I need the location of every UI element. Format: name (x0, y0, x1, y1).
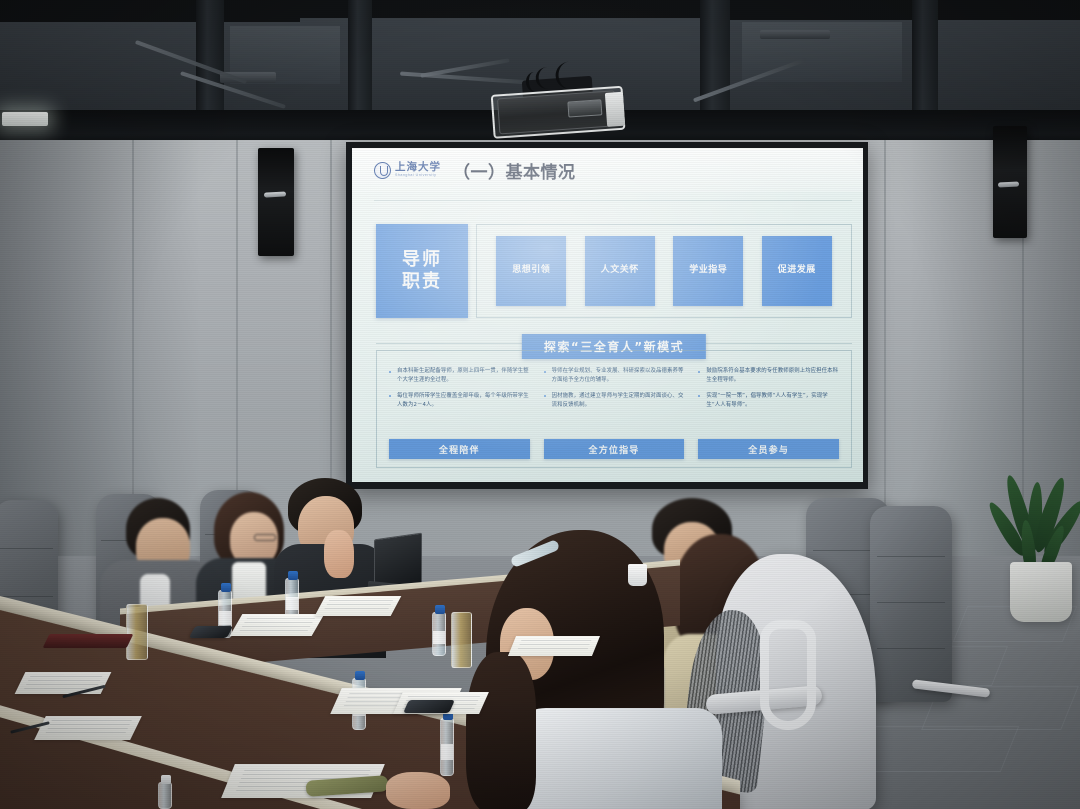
wall-shading-left (0, 140, 200, 560)
paper-sheet-1[interactable] (230, 614, 325, 636)
thermos-flask-1[interactable] (126, 604, 148, 660)
projection-screen-frame: 上海大学 Shanghai University （一）基本情况 导师 职责 思… (346, 142, 868, 489)
duty-item-1: 思想引领 (496, 236, 566, 306)
column-2-bullet-2: 因材施教，通过建立导师与学生定期的面对面谈心、交流和反馈机制。 (544, 392, 685, 410)
duties-main-label: 导师 职责 (376, 224, 468, 318)
slide-content-box: 自本科新生起配备导师，原则上四年一贯，伴随学生整个大学生涯的全过程。 每位导师所… (376, 350, 852, 468)
chair-seam (0, 596, 53, 597)
projection-screen: 上海大学 Shanghai University （一）基本情况 导师 职责 思… (352, 148, 863, 482)
water-bottle-6[interactable] (158, 782, 172, 809)
ceiling-beam-2 (348, 0, 372, 112)
bottle-label (433, 631, 445, 644)
bottle-label (286, 597, 298, 610)
speaker-grille-left (264, 191, 287, 197)
smartphone-1[interactable] (189, 626, 233, 638)
bottle-cap (288, 571, 298, 580)
wall-speaker-left (258, 148, 294, 256)
water-bottle-4[interactable] (440, 718, 454, 776)
duty-item-3: 学业指导 (673, 236, 743, 306)
university-name: 上海大学 Shanghai University (395, 162, 441, 178)
water-bottle-5[interactable] (432, 612, 446, 656)
speaker-grille-right (998, 181, 1019, 187)
slide-header: 上海大学 Shanghai University （一）基本情况 (352, 148, 863, 192)
bottle-cap (221, 583, 231, 592)
bottle-label (219, 611, 231, 625)
chair-seam (877, 602, 946, 603)
column-2-bullets: 导师在学业规划、专业发展、科研探索以及品德素养等方面给予全方位的辅导。 因材施教… (544, 367, 685, 417)
bottle-cap (161, 775, 171, 784)
chair-mesh-cutout (760, 620, 816, 730)
attendee-front-shirt (506, 708, 722, 809)
paper-sheet-4[interactable] (34, 716, 142, 740)
duty-item-4: 促进发展 (762, 236, 832, 306)
column-2-bullet-1: 导师在学业规划、专业发展、科研探索以及品德素养等方面给予全方位的辅导。 (544, 367, 685, 385)
wall-seam-4 (884, 140, 886, 560)
column-3-bullet-1: 鼓励院系符合基本要求的专任教师原则上均应担任本科生全程导师。 (698, 367, 839, 385)
attendee-front (466, 530, 722, 809)
attendee-front-hair-front (466, 652, 536, 809)
book-stack[interactable] (43, 634, 134, 648)
paper-text-lines (238, 618, 315, 632)
column-1-bullets: 自本科新生起配备导师，原则上四年一贯，伴随学生整个大学生涯的全过程。 每位导师所… (389, 367, 530, 417)
paper-sheet-3[interactable] (15, 672, 112, 694)
column-3-label: 全员参与 (698, 439, 839, 459)
paper-text-lines (323, 600, 394, 613)
bottle-cap (435, 605, 445, 614)
chair-seam (0, 548, 53, 549)
smartphone-2[interactable] (403, 700, 455, 713)
column-2-label: 全方位指导 (544, 439, 685, 459)
slide-header-rule (374, 200, 852, 201)
ceiling-projector (497, 84, 628, 139)
chair-back-right-mid[interactable] (870, 506, 952, 702)
presenter-hands (324, 530, 354, 578)
duties-main-line2: 职责 (402, 271, 442, 294)
slide-column-1: 自本科新生起配备导师，原则上四年一贯，伴随学生整个大学生涯的全过程。 每位导师所… (385, 367, 534, 459)
wall-speaker-right (993, 126, 1027, 238)
slide-title: （一）基本情况 (453, 158, 576, 183)
slide-column-2: 导师在学业规划、专业发展、科研探索以及品德素养等方面给予全方位的辅导。 因材施教… (540, 367, 689, 459)
column-1-label: 全程陪伴 (389, 439, 530, 459)
plant-pot (1010, 562, 1072, 622)
thermos-flask-2[interactable] (451, 612, 472, 668)
duties-row: 导师 职责 思想引领 人文关怀 学业指导 促进发展 (376, 224, 852, 318)
ceiling-vent-2 (760, 30, 830, 39)
conference-room-photo: 上海大学 Shanghai University （一）基本情况 导师 职责 思… (0, 0, 1080, 809)
duties-main-line1: 导师 (402, 249, 442, 272)
paper-sheet-8[interactable] (508, 636, 600, 656)
university-name-en: Shanghai University (395, 174, 441, 178)
university-emblem-icon (374, 162, 391, 179)
paper-sheet-2[interactable] (315, 596, 402, 616)
duty-item-2: 人文关怀 (585, 236, 655, 306)
column-1-bullet-1: 自本科新生起配备导师，原则上四年一贯，伴随学生整个大学生涯的全过程。 (389, 367, 530, 385)
foreground-hand (386, 772, 450, 809)
ceiling-light (2, 112, 48, 126)
university-name-cn: 上海大学 (395, 162, 441, 173)
ceiling-beam-1 (196, 0, 224, 112)
projector-foot (605, 92, 625, 127)
bottle-label (441, 744, 453, 761)
bottle-cap (355, 671, 365, 680)
paper-text-lines (516, 640, 592, 653)
ceiling-beam-4 (912, 0, 938, 112)
slide-column-3: 鼓励院系符合基本要求的专任教师原则上均应担任本科生全程导师。 实现“一院一策”，… (694, 367, 843, 459)
paper-cup[interactable] (628, 564, 647, 586)
chair-seam (877, 648, 946, 649)
column-1-bullet-2: 每位导师所带学生应覆盖全部年级，每个年级所带学生人数为2－4人。 (389, 392, 530, 410)
column-3-bullet-2: 实现“一院一策”，倡导教师“人人有学生”，实现学生“人人有导师”。 (698, 392, 839, 410)
potted-plant (986, 476, 1080, 676)
paper-text-lines (44, 720, 132, 735)
column-3-bullets: 鼓励院系符合基本要求的专任教师原则上均应担任本科生全程导师。 实现“一院一策”，… (698, 367, 839, 417)
shanghai-university-logo: 上海大学 Shanghai University (374, 162, 441, 179)
chair-seam (877, 556, 946, 557)
duties-items-container: 思想引领 人文关怀 学业指导 促进发展 (476, 224, 852, 318)
